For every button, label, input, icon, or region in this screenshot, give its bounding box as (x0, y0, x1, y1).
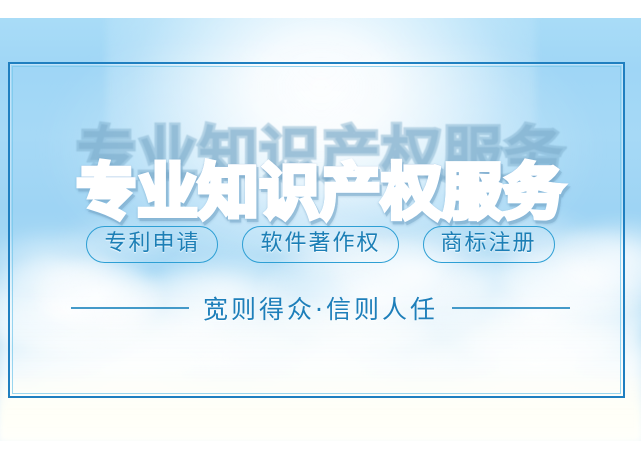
top-white-strip (0, 0, 641, 18)
service-badge-software-copyright[interactable]: 软件著作权 (242, 226, 398, 263)
tagline-text: 宽则得众·信则人任 (203, 290, 438, 326)
service-badge-patent[interactable]: 专利申请 (86, 226, 218, 263)
tagline-rule-right (452, 307, 570, 309)
promo-banner: 专业知识产权服务 专业知识产权服务 专利申请 软件著作权 商标注册 宽则得众·信… (0, 0, 641, 450)
service-badge-trademark[interactable]: 商标注册 (423, 226, 555, 263)
bottom-white-strip (0, 441, 641, 450)
banner-content: 专业知识产权服务 专业知识产权服务 专利申请 软件著作权 商标注册 宽则得众·信… (0, 0, 641, 450)
tagline-rule-left (71, 307, 189, 309)
headline-title: 专业知识产权服务 (0, 163, 641, 223)
tagline-row: 宽则得众·信则人任 (0, 290, 641, 326)
service-badge-row: 专利申请 软件著作权 商标注册 (0, 226, 641, 263)
